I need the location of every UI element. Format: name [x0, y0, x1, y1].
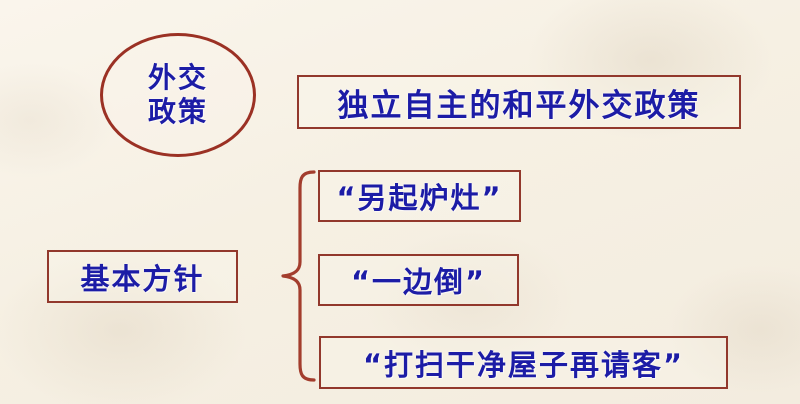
item-label-2: “打扫干净屋子再请客”: [363, 342, 684, 384]
item-label-0: “另起炉灶”: [336, 175, 502, 217]
item-box-1: “一边倒”: [318, 254, 519, 306]
item-label-1: “一边倒”: [351, 259, 486, 301]
category-label: 基本方针: [80, 256, 204, 298]
curly-brace-icon: [262, 168, 318, 384]
headline-box: 独立自主的和平外交政策: [297, 75, 741, 129]
oval-label-line2: 政策: [148, 95, 208, 129]
oval-label-line1: 外交: [148, 61, 208, 95]
oval-node-foreign-policy: 外交 政策: [100, 33, 256, 157]
item-box-0: “另起炉灶”: [318, 170, 521, 222]
category-box-basic-principles: 基本方针: [47, 250, 238, 303]
diagram-canvas: 外交 政策 独立自主的和平外交政策 基本方针 “另起炉灶” “一边倒” “打扫干…: [0, 0, 800, 404]
item-box-2: “打扫干净屋子再请客”: [319, 336, 728, 389]
headline-label: 独立自主的和平外交政策: [338, 80, 701, 125]
